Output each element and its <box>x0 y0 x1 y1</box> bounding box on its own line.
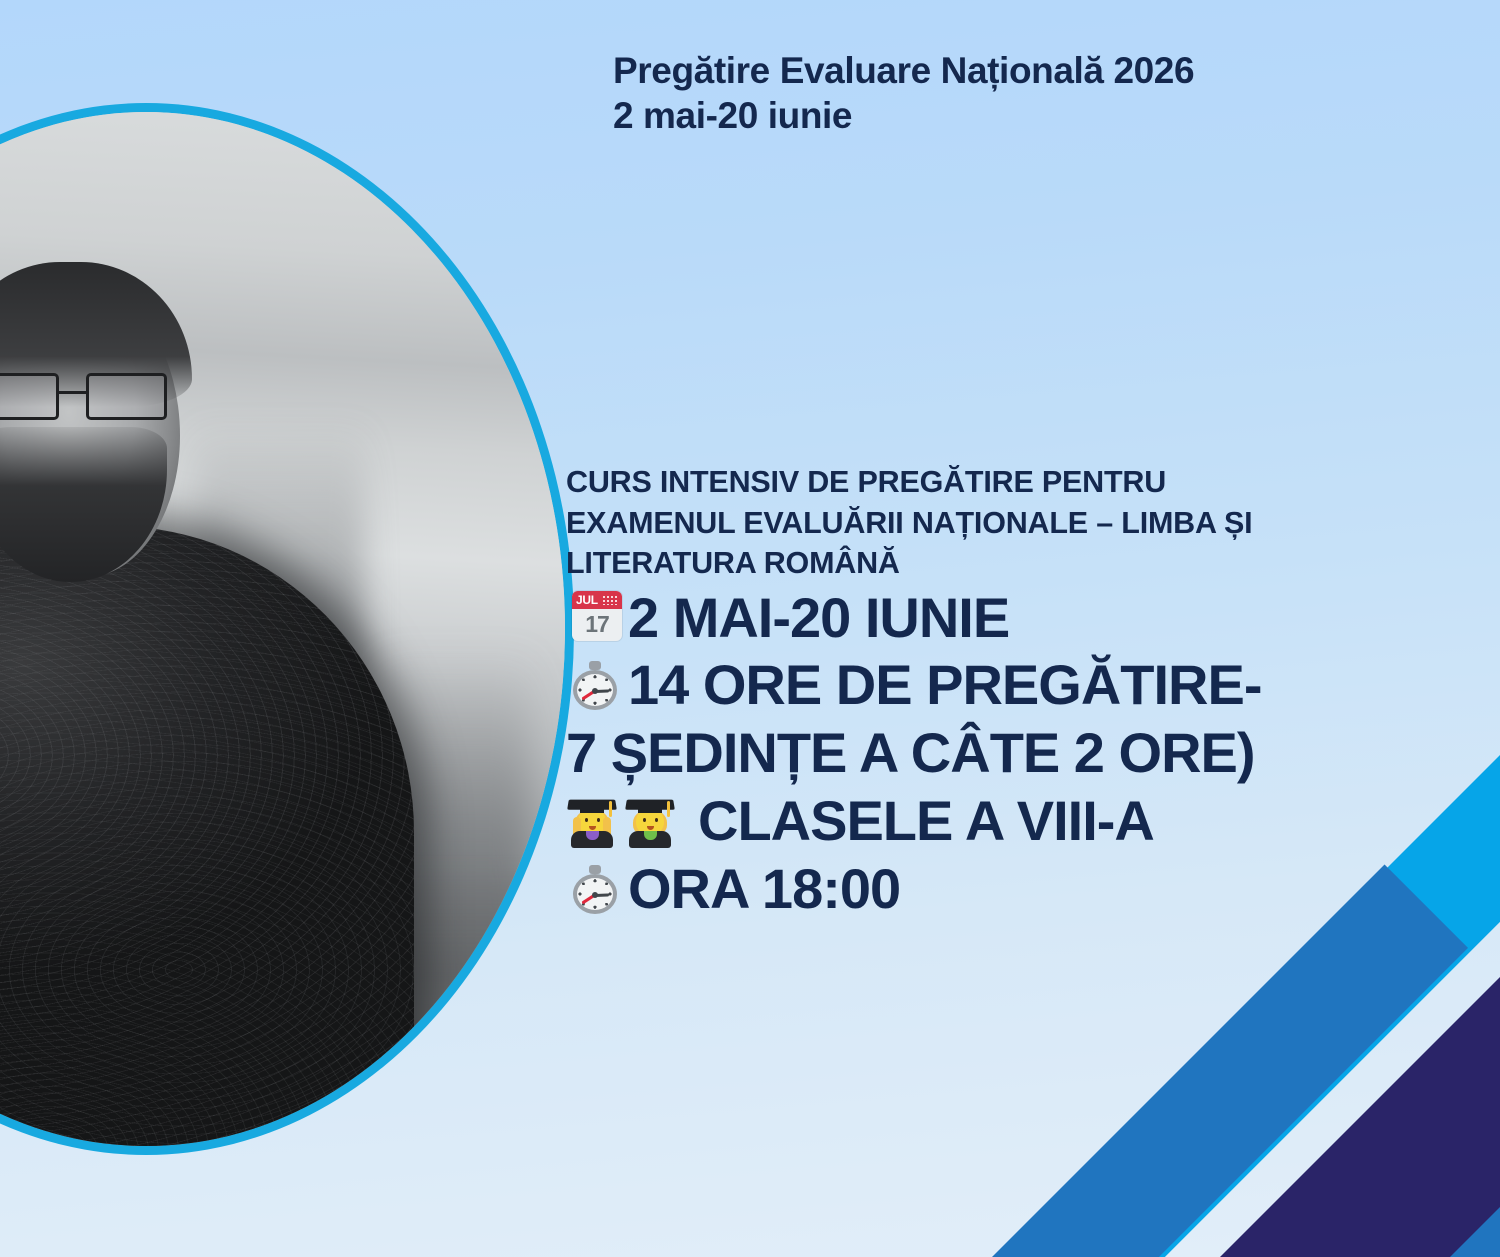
subtitle-line-3: LITERATURA ROMÂNĂ <box>566 543 1466 584</box>
detail-row-grades: CLASELE A VIII-A <box>566 787 1466 855</box>
detail-text-grades: CLASELE A VIII-A <box>698 789 1154 852</box>
course-details-list: JUL 17 2 MAI-20 IUNIE <box>566 584 1466 923</box>
graduate-man-eye-right <box>655 818 658 822</box>
detail-row-hours: 14 ORE DE PREGĂTIRE- <box>566 651 1466 719</box>
detail-text-sessions: 7 ȘEDINȚE A CÂTE 2 ORE) <box>566 721 1255 784</box>
detail-row-sessions: 7 ȘEDINȚE A CÂTE 2 ORE) <box>566 719 1466 787</box>
stopwatch-icon <box>566 655 624 713</box>
stopwatch-icon-pin <box>592 892 598 898</box>
course-subtitle: CURS INTENSIV DE PREGĂTIRE PENTRU EXAMEN… <box>566 462 1466 584</box>
portrait-photo <box>0 112 565 1146</box>
stripe-midblue-inner <box>932 864 1468 1257</box>
stopwatch-icon-crown <box>589 865 601 874</box>
graduates-icon <box>566 791 686 849</box>
detail-text-dates: 2 MAI-20 IUNIE <box>628 586 1009 649</box>
detail-text-time: ORA 18:00 <box>628 857 900 920</box>
graduate-woman-icon <box>566 795 618 847</box>
detail-text-hours: 14 ORE DE PREGĂTIRE- <box>628 653 1261 716</box>
eyeglasses-bridge <box>59 391 85 394</box>
graduate-woman-eye-left <box>585 818 588 822</box>
graduate-man-icon <box>624 795 676 847</box>
header-line-2: 2 mai-20 iunie <box>613 93 1433 138</box>
eyeglasses-lens-left <box>0 373 59 421</box>
portrait-circle-ring <box>0 103 574 1155</box>
eyeglasses-lens-right <box>86 373 167 421</box>
header-line-1: Pregătire Evaluare Națională 2026 <box>613 48 1433 93</box>
detail-row-dates: JUL 17 2 MAI-20 IUNIE <box>566 584 1466 652</box>
poster-header: Pregătire Evaluare Națională 2026 2 mai-… <box>613 48 1433 138</box>
graduate-man-eye-left <box>643 818 646 822</box>
calendar-icon-day: 17 <box>572 609 622 641</box>
eyeglasses-icon <box>0 373 167 421</box>
poster-canvas: Pregătire Evaluare Națională 2026 2 mai-… <box>0 0 1500 1257</box>
stopwatch-icon <box>566 859 624 917</box>
graduate-woman-eye-right <box>597 818 600 822</box>
poster-body: CURS INTENSIV DE PREGĂTIRE PENTRU EXAMEN… <box>566 462 1466 922</box>
calendar-icon-month: JUL <box>576 592 598 608</box>
stopwatch-icon-crown <box>589 661 601 670</box>
subtitle-line-1: CURS INTENSIV DE PREGĂTIRE PENTRU <box>566 462 1466 503</box>
stopwatch-icon-body <box>570 661 620 711</box>
calendar-icon-body: JUL 17 <box>572 591 622 641</box>
calendar-icon-dots <box>602 595 618 605</box>
stopwatch-icon-body <box>570 865 620 915</box>
graduate-woman-cap-tassel <box>609 801 612 817</box>
subtitle-line-2: EXAMENUL EVALUĂRII NAȚIONALE – LIMBA ȘI <box>566 503 1466 544</box>
calendar-icon: JUL 17 <box>566 588 624 646</box>
detail-row-time: ORA 18:00 <box>566 855 1466 923</box>
graduate-man-cap-tassel <box>667 801 670 817</box>
